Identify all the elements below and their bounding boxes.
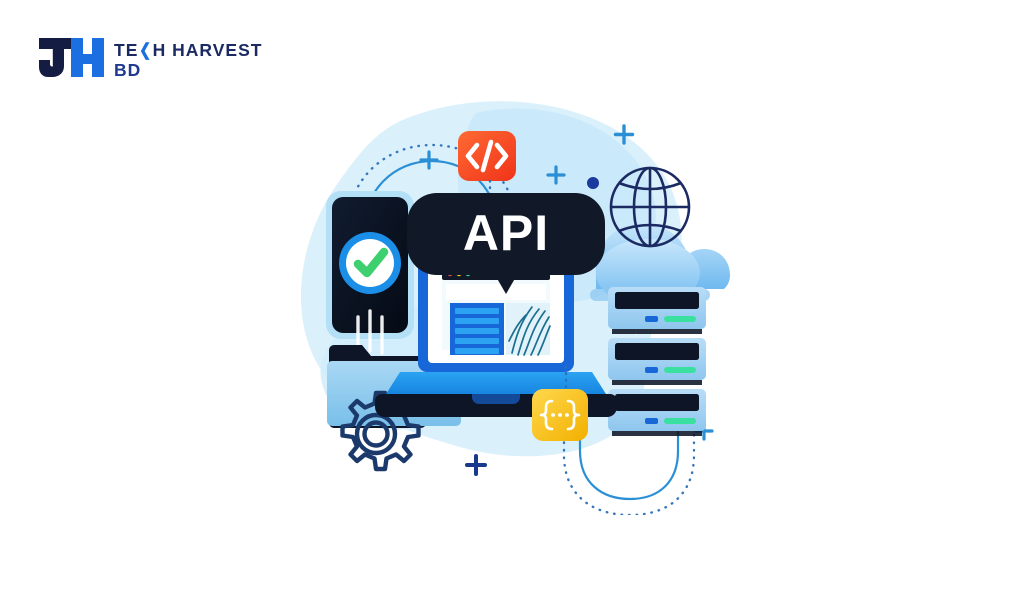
dot-icon	[587, 177, 599, 189]
logo-letter-h	[71, 38, 104, 77]
check-circle-icon	[339, 232, 401, 294]
th-monogram-icon	[38, 36, 105, 83]
globe-wireframe-icon	[611, 168, 689, 246]
api-illustration: API	[290, 95, 740, 515]
logo-name-part1: TE	[114, 41, 138, 59]
server-unit	[608, 287, 706, 334]
plus-icon	[467, 456, 485, 474]
browser-window-icon	[442, 267, 550, 355]
server-unit	[608, 338, 706, 385]
api-bubble-label: API	[463, 205, 549, 261]
logo-country-code: BD	[114, 61, 262, 79]
api-illustration-svg: API	[290, 95, 740, 515]
json-ellipsis	[551, 413, 569, 417]
server-unit	[608, 389, 706, 436]
logo-name-part2: H HARVEST	[153, 41, 263, 59]
code-tag-icon[interactable]	[458, 131, 516, 181]
json-braces-icon[interactable]	[532, 389, 588, 441]
server-rack-icon[interactable]	[608, 287, 706, 436]
brand-logo[interactable]: TE❮H HARVEST BD	[38, 36, 262, 83]
smartphone-icon[interactable]	[326, 191, 414, 353]
logo-wordmark: TE❮H HARVEST BD	[114, 36, 262, 79]
page-root: { "page": { "background_color": "#ffffff…	[0, 0, 1024, 595]
logo-chevron-icon: ❮	[139, 42, 152, 60]
logo-company-name: TE❮H HARVEST	[114, 41, 262, 60]
